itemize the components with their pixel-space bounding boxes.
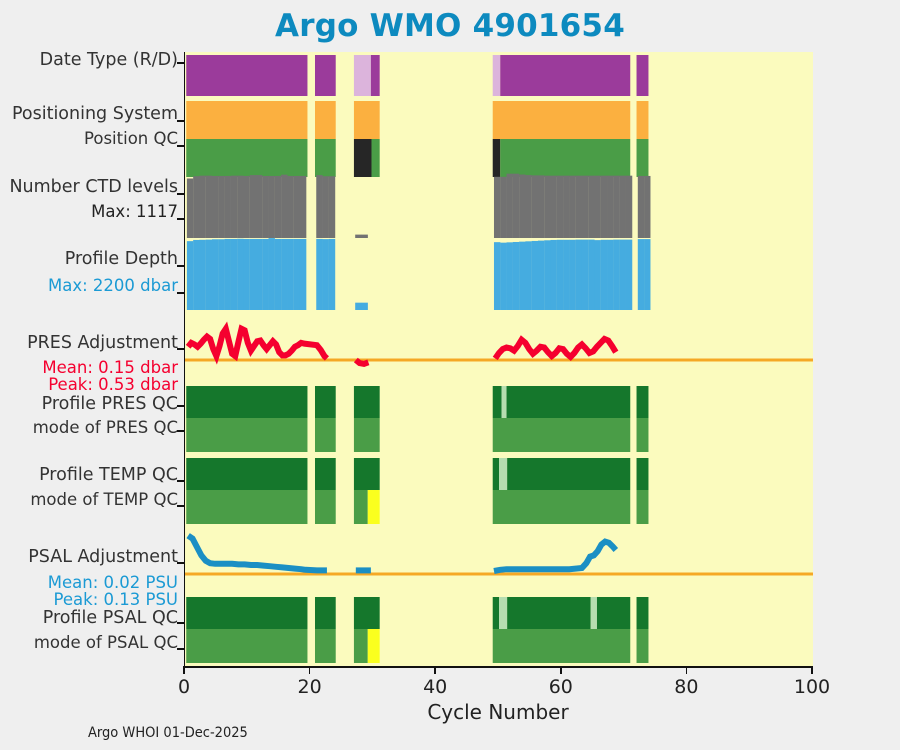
profile-temp-qc-segment-4 [499,458,507,490]
date-type-segment-3 [371,55,380,96]
mode-pres-qc-segment-1 [315,418,336,452]
profile-depth-bar-19 [316,239,322,310]
ctd-level-bar-20 [323,176,329,238]
profile-depth-bar-36 [569,240,575,310]
row-label-ctd-levels: Number CTD levels [9,179,178,197]
mode-psal-qc-segment-2 [354,629,368,663]
argo-summary-figure: Argo WMO 4901654 020406080100 Cycle Numb… [0,0,900,750]
profile-depth-bar-43 [613,240,619,310]
ctd-level-bar-23 [361,235,367,238]
x-axis-line [184,666,813,668]
ctd-level-bar-12 [262,176,268,238]
chart-svg [185,52,813,666]
row-label-positioning: Positioning System [12,106,178,124]
y-tick-12 [177,562,184,564]
x-tick-label-20: 20 [298,676,322,698]
x-axis-title: Cycle Number [184,700,812,724]
row-label-date-type: Date Type (R/D) [40,52,178,70]
profile-depth-bar-33 [550,240,556,310]
mode-temp-qc-segment-4 [493,490,631,524]
profile-depth-bar-2 [199,240,205,310]
x-tick-40 [434,666,436,674]
profile-depth-bar-46 [638,239,644,310]
ctd-level-bar-46 [638,176,644,238]
y-tick-13 [177,622,184,624]
profile-depth-bar-42 [607,240,613,310]
date-type-segment-1 [315,55,336,96]
profile-depth-bar-0 [187,241,193,310]
position-qc-segment-1 [315,139,336,177]
ctd-level-bar-18 [300,176,306,238]
ctd-level-bar-31 [538,175,544,238]
ctd-level-bar-13 [269,176,275,238]
pres-adjustment-line-2 [495,339,616,359]
x-tick-label-100: 100 [794,676,830,698]
profile-psal-qc-segment-3 [493,597,499,629]
profile-temp-qc-segment-5 [507,458,630,490]
mode-temp-qc-segment-5 [637,490,649,524]
profile-depth-bar-15 [281,239,287,310]
profile-depth-bar-12 [262,239,268,310]
row-label-ctd-max: Max: 1117 [91,204,178,221]
profile-psal-qc-segment-7 [597,597,630,629]
profile-depth-bar-41 [601,240,607,310]
profile-psal-qc-segment-4 [499,597,507,629]
row-label-mode-psal-qc: mode of PSAL QC [34,635,178,652]
y-tick-11 [177,505,184,507]
profile-depth-bar-30 [532,241,538,310]
ctd-level-bar-45 [626,176,632,238]
date-type-segment-0 [186,55,307,96]
y-tick-14 [177,648,184,650]
mode-psal-qc-segment-0 [186,629,307,663]
profile-pres-qc-segment-5 [507,386,631,418]
y-tick-9 [177,430,184,432]
plot-area [184,52,813,666]
y-tick-6 [177,292,184,294]
mode-temp-qc-segment-0 [186,490,307,524]
y-tick-7 [177,348,184,350]
x-tick-80 [686,666,688,674]
x-tick-60 [560,666,562,674]
y-tick-8 [177,405,184,407]
profile-depth-bar-25 [500,243,506,310]
profile-depth-bar-31 [538,241,544,310]
y-tick-3 [177,193,184,195]
profile-pres-qc-segment-4 [502,386,507,418]
mode-temp-qc-segment-1 [315,490,336,524]
ctd-level-bar-9 [243,176,249,238]
profile-depth-bar-9 [243,239,249,310]
positioning-segment-3 [493,101,631,139]
profile-psal-qc-segment-8 [637,597,649,629]
position-qc-segment-2 [354,139,372,177]
profile-depth-bar-16 [287,239,293,310]
position-qc-segment-6 [637,139,649,177]
ctd-level-bar-7 [231,176,237,238]
ctd-level-bar-5 [218,176,224,238]
ctd-level-bar-39 [588,176,594,238]
x-tick-label-40: 40 [423,676,447,698]
profile-depth-bar-28 [519,242,525,310]
profile-depth-bar-44 [620,240,626,310]
profile-pres-qc-segment-1 [315,386,336,418]
row-label-psal-adjustment: PSAL Adjustment [28,549,178,567]
ctd-level-bar-1 [193,176,199,238]
ctd-level-bar-15 [281,175,287,238]
profile-depth-bar-27 [513,242,519,310]
ctd-level-bar-21 [329,176,335,238]
row-label-pres-peak: Peak: 0.53 dbar [48,377,178,394]
profile-temp-qc-segment-0 [186,458,307,490]
x-tick-0 [183,666,185,674]
profile-psal-qc-segment-6 [591,597,597,629]
ctd-level-bar-34 [557,176,563,238]
date-type-segment-4 [493,55,501,96]
mode-pres-qc-segment-2 [354,418,380,452]
profile-temp-qc-segment-6 [637,458,649,490]
profile-depth-bar-22 [355,303,361,310]
row-label-depth-max: Max: 2200 dbar [48,278,178,295]
profile-psal-qc-segment-0 [186,597,307,629]
profile-depth-bar-32 [544,240,550,310]
x-tick-label-80: 80 [674,676,698,698]
ctd-level-bar-19 [316,175,322,238]
page-title: Argo WMO 4901654 [0,8,900,44]
profile-depth-bar-20 [323,239,329,310]
row-label-profile-psal-qc: Profile PSAL QC [43,610,178,628]
profile-pres-qc-segment-3 [493,386,502,418]
ctd-level-bar-25 [500,177,506,238]
profile-depth-bar-40 [594,240,600,310]
ctd-level-bar-36 [569,176,575,238]
ctd-level-bar-40 [594,176,600,238]
row-label-profile-temp-qc: Profile TEMP QC [39,467,178,485]
ctd-level-bar-42 [607,176,613,238]
row-label-psal-peak: Peak: 0.13 PSU [54,592,178,609]
y-tick-5 [177,265,184,267]
profile-depth-bar-1 [193,240,199,310]
profile-depth-bar-6 [225,239,231,310]
date-type-segment-6 [637,55,649,96]
profile-psal-qc-segment-5 [507,597,591,629]
ctd-level-bar-43 [613,176,619,238]
profile-depth-bar-18 [300,239,306,310]
ctd-level-bar-27 [513,174,519,238]
profile-depth-bar-35 [563,240,569,310]
ctd-level-bar-22 [355,235,361,238]
ctd-level-bar-35 [563,176,569,238]
ctd-level-bar-24 [494,177,500,238]
ctd-level-bar-2 [199,176,205,238]
ctd-level-bar-32 [544,176,550,238]
position-qc-segment-3 [372,139,380,177]
profile-pres-qc-segment-0 [186,386,307,418]
profile-depth-bar-14 [275,239,281,310]
profile-depth-bar-23 [361,303,367,310]
ctd-level-bar-33 [550,176,556,238]
profile-depth-bar-4 [212,239,218,310]
ctd-level-bar-17 [294,176,300,238]
ctd-level-bar-3 [206,176,212,238]
psal-adjustment-line-0 [188,536,327,571]
profile-temp-qc-segment-3 [493,458,499,490]
positioning-segment-1 [315,101,336,139]
profile-depth-bar-11 [256,239,262,310]
y-tick-10 [177,480,184,482]
profile-temp-qc-segment-2 [354,458,380,490]
x-tick-label-60: 60 [549,676,573,698]
profile-depth-bar-3 [206,240,212,310]
profile-depth-bar-8 [237,239,243,310]
mode-psal-qc-segment-4 [493,629,631,663]
date-type-segment-2 [354,55,371,96]
y-tick-0 [177,62,184,64]
ctd-level-bar-28 [519,175,525,238]
row-label-mode-temp-qc: mode of TEMP QC [30,492,178,509]
pres-adjustment-line-1 [356,360,369,364]
profile-temp-qc-segment-1 [315,458,336,490]
ctd-level-bar-30 [532,175,538,238]
profile-depth-bar-47 [644,239,650,310]
y-tick-1 [177,120,184,122]
positioning-segment-0 [186,101,307,139]
ctd-level-bar-26 [507,174,513,238]
profile-depth-bar-26 [507,242,513,310]
ctd-level-bar-11 [256,175,262,238]
profile-psal-qc-segment-1 [315,597,336,629]
date-type-segment-5 [500,55,630,96]
row-label-profile-depth: Profile Depth [65,251,178,269]
x-tick-20 [309,666,311,674]
ctd-level-bar-8 [237,176,243,238]
figure-footer: Argo WHOI 01-Dec-2025 [88,725,248,741]
y-tick-2 [177,145,184,147]
profile-depth-bar-45 [626,240,632,310]
x-tick-label-0: 0 [178,676,190,698]
ctd-level-bar-6 [225,176,231,238]
ctd-level-bar-37 [576,176,582,238]
row-label-mode-pres-qc: mode of PRES QC [33,420,178,437]
ctd-level-bar-16 [287,176,293,238]
mode-temp-qc-segment-3 [368,490,380,524]
ctd-level-bar-47 [644,176,650,238]
ctd-level-bar-44 [620,176,626,238]
mode-psal-qc-segment-5 [637,629,649,663]
ctd-level-bar-14 [275,176,281,238]
y-tick-4 [177,218,184,220]
profile-depth-bar-13 [269,238,275,310]
mode-temp-qc-segment-2 [354,490,368,524]
mode-pres-qc-segment-4 [637,418,649,452]
mode-psal-qc-segment-3 [368,629,380,663]
profile-depth-bar-17 [294,239,300,310]
row-label-pres-adjustment: PRES Adjustment [27,335,178,353]
row-label-position-qc: Position QC [84,131,178,148]
positioning-segment-2 [354,101,380,139]
mode-psal-qc-segment-1 [315,629,336,663]
profile-depth-bar-29 [525,241,531,310]
ctd-level-bar-4 [212,176,218,238]
ctd-level-bar-29 [525,175,531,238]
ctd-level-bar-10 [250,175,256,238]
profile-depth-bar-21 [329,239,335,310]
profile-depth-bar-7 [231,239,237,310]
position-qc-segment-5 [500,139,630,177]
mode-pres-qc-segment-0 [186,418,307,452]
ctd-level-bar-38 [582,176,588,238]
profile-depth-bar-34 [557,240,563,310]
row-label-profile-pres-qc: Profile PRES QC [42,396,178,414]
position-qc-segment-4 [493,139,501,177]
profile-depth-bar-37 [576,240,582,310]
psal-adjustment-line-2 [494,542,616,571]
mode-pres-qc-segment-3 [493,418,631,452]
profile-depth-bar-10 [250,239,256,310]
position-qc-segment-0 [186,139,307,177]
profile-depth-bar-24 [494,242,500,310]
plot-canvas [185,52,813,666]
positioning-segment-4 [637,101,649,139]
profile-depth-bar-39 [588,240,594,310]
profile-depth-bar-5 [218,239,224,310]
pres-adjustment-line-0 [188,329,327,359]
profile-pres-qc-segment-6 [637,386,649,418]
ctd-level-bar-0 [187,179,193,239]
profile-depth-bar-38 [582,240,588,310]
profile-pres-qc-segment-2 [354,386,380,418]
profile-psal-qc-segment-2 [354,597,380,629]
x-tick-100 [811,666,813,674]
ctd-level-bar-41 [601,176,607,238]
